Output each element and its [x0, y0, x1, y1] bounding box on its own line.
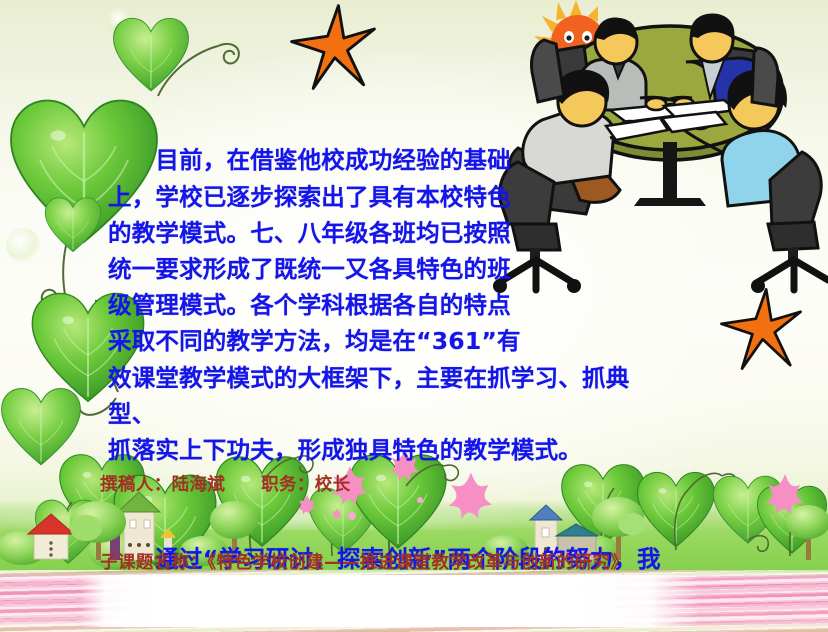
slide-canvas: 目前，在借鉴他校成功经验的基础 上，学校已逐步探索出了具有本校特色 的教学模式。… [0, 0, 828, 632]
footer-subject-line: 子课题名称：《特色学校创建——推进课堂教学改革与创新的研究》 [100, 550, 800, 576]
footer-text: 撰稿人：陆海斌 职务：校长 子课题名称：《特色学校创建——推进课堂教学改革与创新… [100, 420, 800, 628]
office-chair [752, 48, 778, 106]
footer-author-line: 撰稿人：陆海斌 职务：校长 [100, 472, 800, 498]
orange-star-icon [721, 289, 800, 368]
